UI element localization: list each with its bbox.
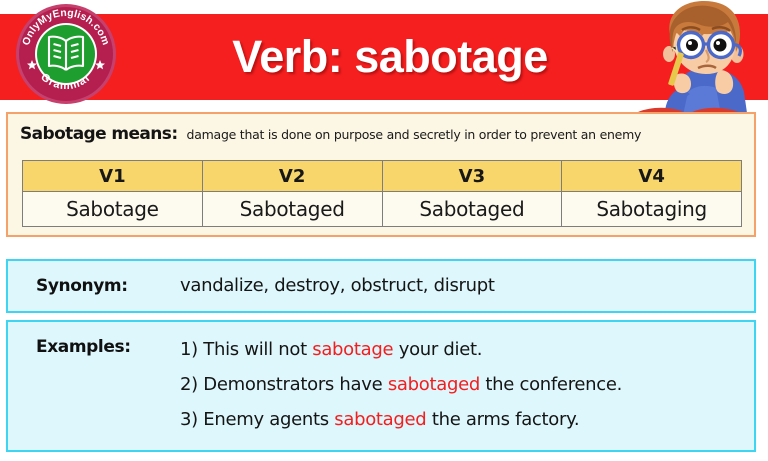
example-highlight: sabotage [312, 339, 393, 360]
list-item: 2) Demonstrators have sabotaged the conf… [180, 367, 746, 402]
verb-forms-table: V1 V2 V3 V4 Sabotage Sabotaged Sabotaged… [22, 160, 742, 227]
synonym-section: Synonym: vandalize, destroy, obstruct, d… [6, 259, 756, 313]
column-header-v3: V3 [382, 161, 562, 192]
definition-and-forms-section: Sabotage means: damage that is done on p… [6, 112, 756, 237]
cell-v4: Sabotaging [562, 192, 742, 227]
example-highlight: sabotaged [388, 374, 480, 395]
example-text-after: the conference. [480, 374, 622, 395]
cell-v2: Sabotaged [202, 192, 382, 227]
column-header-v1: V1 [23, 161, 203, 192]
table-row: Sabotage Sabotaged Sabotaged Sabotaging [23, 192, 742, 227]
example-text-before: This will not [203, 339, 312, 360]
definition-text: damage that is done on purpose and secre… [187, 127, 642, 142]
examples-label: Examples: [36, 337, 131, 357]
example-text-before: Demonstrators have [203, 374, 388, 395]
list-item: 3) Enemy agents sabotaged the arms facto… [180, 402, 746, 437]
worksheet-page: Verb: sabotage [0, 0, 768, 461]
list-item: 1) This will not sabotage your diet. [180, 332, 746, 367]
synonym-value: vandalize, destroy, obstruct, disrupt [180, 275, 495, 296]
examples-list: 1) This will not sabotage your diet. 2) … [180, 332, 746, 437]
example-text-before: Enemy agents [203, 409, 334, 430]
examples-section: Examples: 1) This will not sabotage your… [6, 320, 756, 452]
page-title: Verb: sabotage [150, 14, 630, 100]
example-number: 2) [180, 374, 198, 395]
example-text-after: the arms factory. [426, 409, 579, 430]
example-text-after: your diet. [393, 339, 482, 360]
example-number: 3) [180, 409, 198, 430]
column-header-v2: V2 [202, 161, 382, 192]
site-logo[interactable]: OnlyMyEnglish.com Grammar [14, 2, 118, 106]
definition-label: Sabotage means: [20, 124, 178, 144]
column-header-v4: V4 [562, 161, 742, 192]
example-number: 1) [180, 339, 198, 360]
definition-row: Sabotage means: damage that is done on p… [20, 124, 744, 144]
logo-badge-icon: OnlyMyEnglish.com Grammar [14, 2, 118, 106]
example-highlight: sabotaged [334, 409, 426, 430]
cell-v1: Sabotage [23, 192, 203, 227]
table-header-row: V1 V2 V3 V4 [23, 161, 742, 192]
synonym-label: Synonym: [36, 276, 128, 296]
cell-v3: Sabotaged [382, 192, 562, 227]
